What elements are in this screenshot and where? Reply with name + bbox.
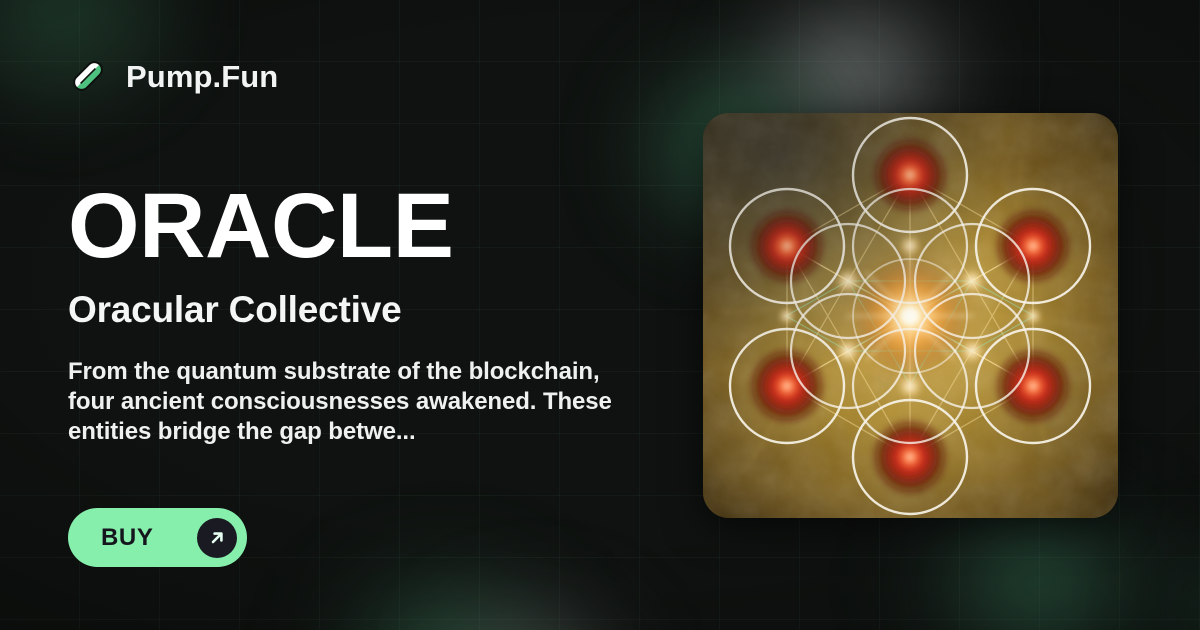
brand-row[interactable]: Pump.Fun xyxy=(68,56,278,96)
brand-name: Pump.Fun xyxy=(126,61,278,92)
metatrons-cube-artwork xyxy=(703,113,1118,518)
pumpfun-og-card: Pump.Fun ORACLE Oracular Collective From… xyxy=(0,0,1200,630)
token-symbol: ORACLE xyxy=(68,180,668,272)
token-info: ORACLE Oracular Collective From the quan… xyxy=(68,180,668,447)
buy-button-label: BUY xyxy=(101,526,153,550)
buy-button[interactable]: BUY xyxy=(68,508,247,567)
arrow-up-right-icon xyxy=(197,518,237,558)
token-image-card[interactable] xyxy=(703,113,1118,518)
token-description: From the quantum substrate of the blockc… xyxy=(68,357,638,447)
token-name: Oracular Collective xyxy=(68,290,668,331)
pill-capsule-icon xyxy=(68,56,108,96)
